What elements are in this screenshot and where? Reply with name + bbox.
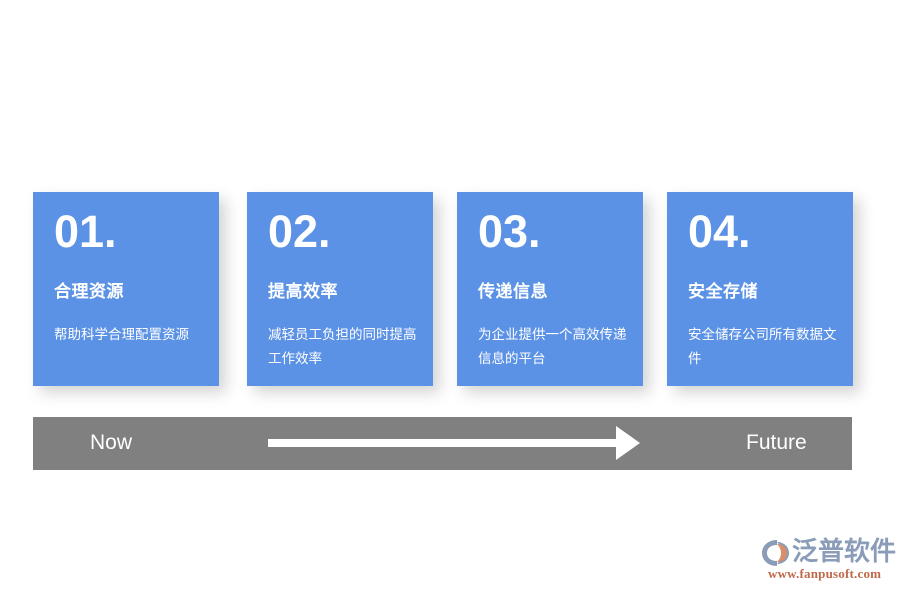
card-description: 减轻员工负担的同时提高工作效率 <box>268 323 420 371</box>
brand-url: www.fanpusoft.com <box>768 566 881 582</box>
timeline-bar: Now Future <box>33 417 852 470</box>
card-description: 为企业提供一个高效传递信息的平台 <box>478 323 630 371</box>
card-title: 合理资源 <box>54 281 124 303</box>
feature-card-04[interactable]: 04. 安全存储 安全储存公司所有数据文件 <box>667 192 853 386</box>
card-number: 01. <box>54 206 117 258</box>
feature-card-01[interactable]: 01. 合理资源 帮助科学合理配置资源 <box>33 192 219 386</box>
card-title: 传递信息 <box>478 281 548 303</box>
fanpu-logo-mark-icon <box>761 539 793 567</box>
card-title: 安全存储 <box>688 281 758 303</box>
brand-logo: 泛普软件 www.fanpusoft.com <box>761 537 889 583</box>
card-number: 03. <box>478 206 541 258</box>
card-number: 04. <box>688 206 751 258</box>
right-arrow-icon <box>268 426 640 460</box>
feature-card-02[interactable]: 02. 提高效率 减轻员工负担的同时提高工作效率 <box>247 192 433 386</box>
brand-name: 泛普软件 <box>792 537 896 567</box>
card-description: 帮助科学合理配置资源 <box>54 323 206 347</box>
card-description: 安全储存公司所有数据文件 <box>688 323 840 371</box>
timeline-end-label: Future <box>746 428 807 458</box>
feature-card-03[interactable]: 03. 传递信息 为企业提供一个高效传递信息的平台 <box>457 192 643 386</box>
slide-canvas: 01. 合理资源 帮助科学合理配置资源 02. 提高效率 减轻员工负担的同时提高… <box>0 0 900 600</box>
feature-card-group: 01. 合理资源 帮助科学合理配置资源 02. 提高效率 减轻员工负担的同时提高… <box>33 192 851 386</box>
timeline-start-label: Now <box>90 428 132 458</box>
card-number: 02. <box>268 206 331 258</box>
card-title: 提高效率 <box>268 281 338 303</box>
